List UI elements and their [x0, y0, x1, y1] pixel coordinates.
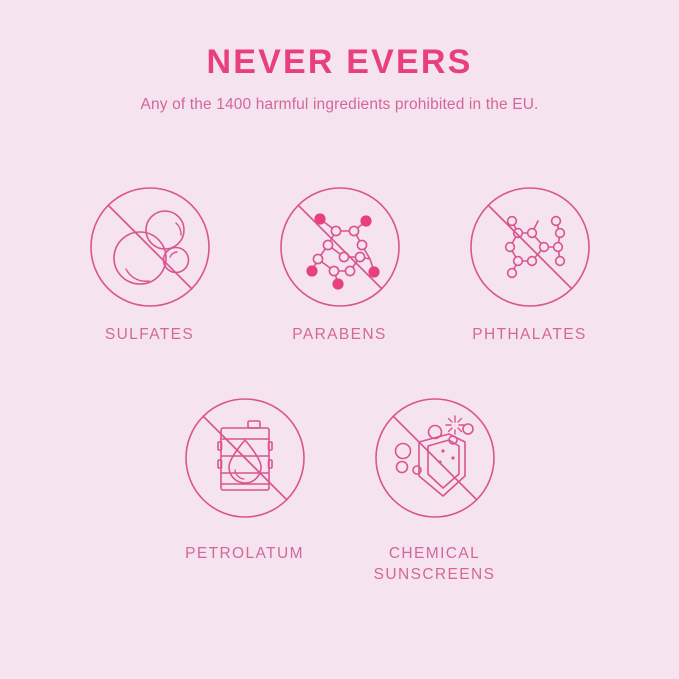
- ingredient-item-petrolatum: PETROLATUM: [150, 396, 340, 586]
- ingredient-item-parabens: PARABENS: [245, 185, 435, 346]
- ingredient-item-sulfates: SULFATES: [55, 185, 245, 346]
- ingredient-label: SULFATES: [105, 325, 194, 346]
- ingredient-item-phthalates: PHTHALATES: [435, 185, 625, 346]
- ingredient-row: PETROLATUM: [0, 396, 679, 586]
- page-subtitle: Any of the 1400 harmful ingredients proh…: [0, 95, 679, 115]
- ingredient-item-chemical-sunscreens: CHEMICAL SUNSCREENS: [340, 396, 530, 586]
- ingredient-label: PHTHALATES: [472, 325, 587, 346]
- poster-header: NEVER EVERS Any of the 1400 harmful ingr…: [0, 0, 679, 116]
- molecule-outline-prohibited-icon: [468, 185, 592, 309]
- never-evers-poster: NEVER EVERS Any of the 1400 harmful ingr…: [0, 0, 679, 679]
- bubbles-prohibited-icon: [88, 185, 212, 309]
- ingredient-row: SULFATES: [0, 185, 679, 346]
- molecule-filled-prohibited-icon: [278, 185, 402, 309]
- ingredient-label: CHEMICAL SUNSCREENS: [374, 544, 496, 586]
- oil-barrel-prohibited-icon: [183, 396, 307, 520]
- sunscreen-bottle-prohibited-icon: [373, 396, 497, 520]
- page-title: NEVER EVERS: [0, 44, 679, 81]
- ingredient-grid: SULFATES: [0, 185, 679, 586]
- ingredient-label: PARABENS: [292, 325, 386, 346]
- ingredient-label: PETROLATUM: [185, 544, 304, 565]
